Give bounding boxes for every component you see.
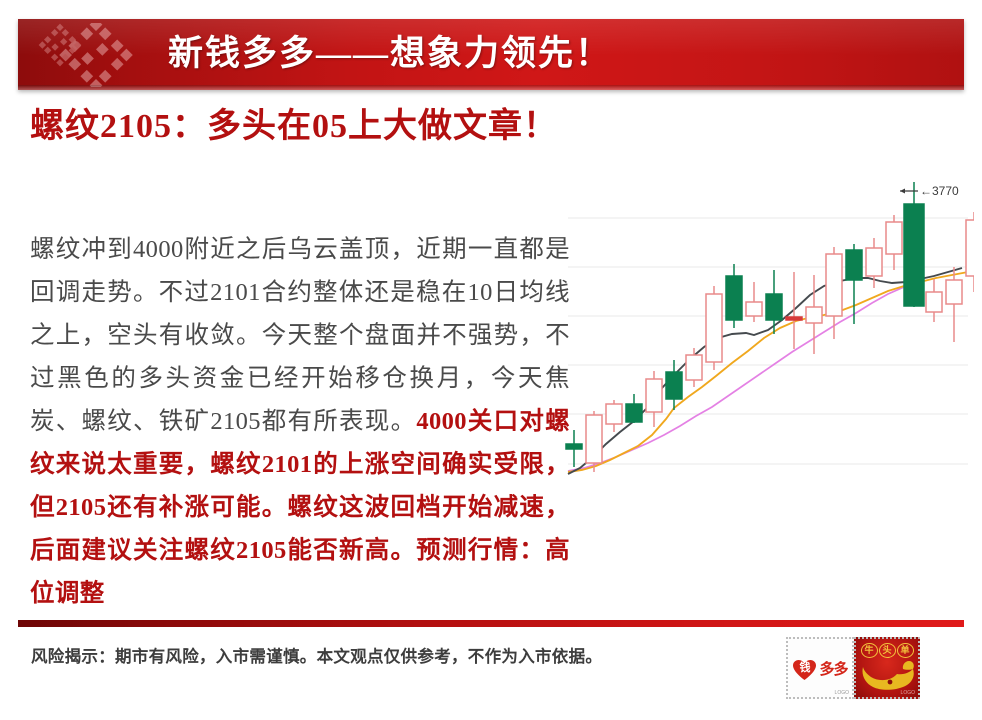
candle-12	[786, 272, 802, 349]
candle-20	[946, 267, 962, 342]
candle-2	[586, 411, 602, 472]
niu-tou-dan-logo: 牛 头 单 LOGO	[854, 637, 920, 699]
candle-1	[566, 430, 582, 467]
candlestick-series	[566, 182, 974, 472]
candle-8	[706, 286, 722, 370]
price-annotation-label: ←3770	[920, 184, 959, 198]
body-paragraph: 螺纹冲到4000附近之后乌云盖顶，近期一直都是回调走势。不过2101合约整体还是…	[30, 228, 570, 615]
footer-divider	[18, 620, 964, 627]
candle-4	[626, 394, 642, 423]
body-text-normal: 螺纹冲到4000附近之后乌云盖顶，近期一直都是回调走势。不过2101合约整体还是…	[30, 236, 570, 435]
candle-18	[904, 182, 924, 307]
heart-glyph-label: 钱	[792, 662, 817, 674]
qian-duo-duo-label: 多多	[819, 658, 847, 679]
ntd-char-1: 牛	[861, 643, 878, 658]
chart-svg: ←3770	[562, 182, 974, 492]
ntd-corner-tag: LOGO	[901, 690, 915, 696]
candle-7	[686, 348, 702, 387]
chinese-knot-lattice-icon	[36, 23, 156, 87]
candle-10	[746, 282, 762, 322]
qian-duo-duo-logo: 钱 多多 LOGO	[786, 637, 854, 699]
ntd-char-3: 单	[897, 643, 914, 658]
candle-17	[886, 215, 902, 270]
candle-9	[726, 264, 742, 328]
price-annotation-3770: ←3770	[900, 184, 959, 198]
candlestick-chart: ←3770	[562, 182, 974, 492]
candle-14	[826, 247, 842, 339]
candle-11	[766, 270, 782, 334]
ma-long-line	[568, 280, 920, 471]
page-title: 螺纹2105：多头在05上大做文章！	[30, 103, 575, 150]
qdd-corner-tag: LOGO	[835, 690, 849, 696]
candle-5	[646, 371, 662, 427]
candle-21	[966, 212, 974, 292]
body-text-highlight: 4000关口对螺纹来说太重要，螺纹2101的上涨空间确实受限，但2105还有补涨…	[30, 408, 570, 607]
heart-icon: 钱	[792, 656, 817, 681]
footer-logo-strip: 钱 多多 LOGO 牛 头 单 LOGO	[786, 637, 920, 699]
header-banner: 新钱多多——想象力领先！	[18, 19, 964, 90]
risk-disclaimer: 风险揭示：期市有风险，入市需谨慎。本文观点仅供参考，不作为入市依据。	[31, 643, 602, 667]
header-title: 新钱多多——想象力领先！	[168, 28, 612, 80]
ntd-char-2: 头	[879, 643, 896, 658]
candle-3	[606, 400, 622, 432]
candle-15	[846, 244, 862, 324]
header-bottom-edge	[18, 85, 964, 90]
